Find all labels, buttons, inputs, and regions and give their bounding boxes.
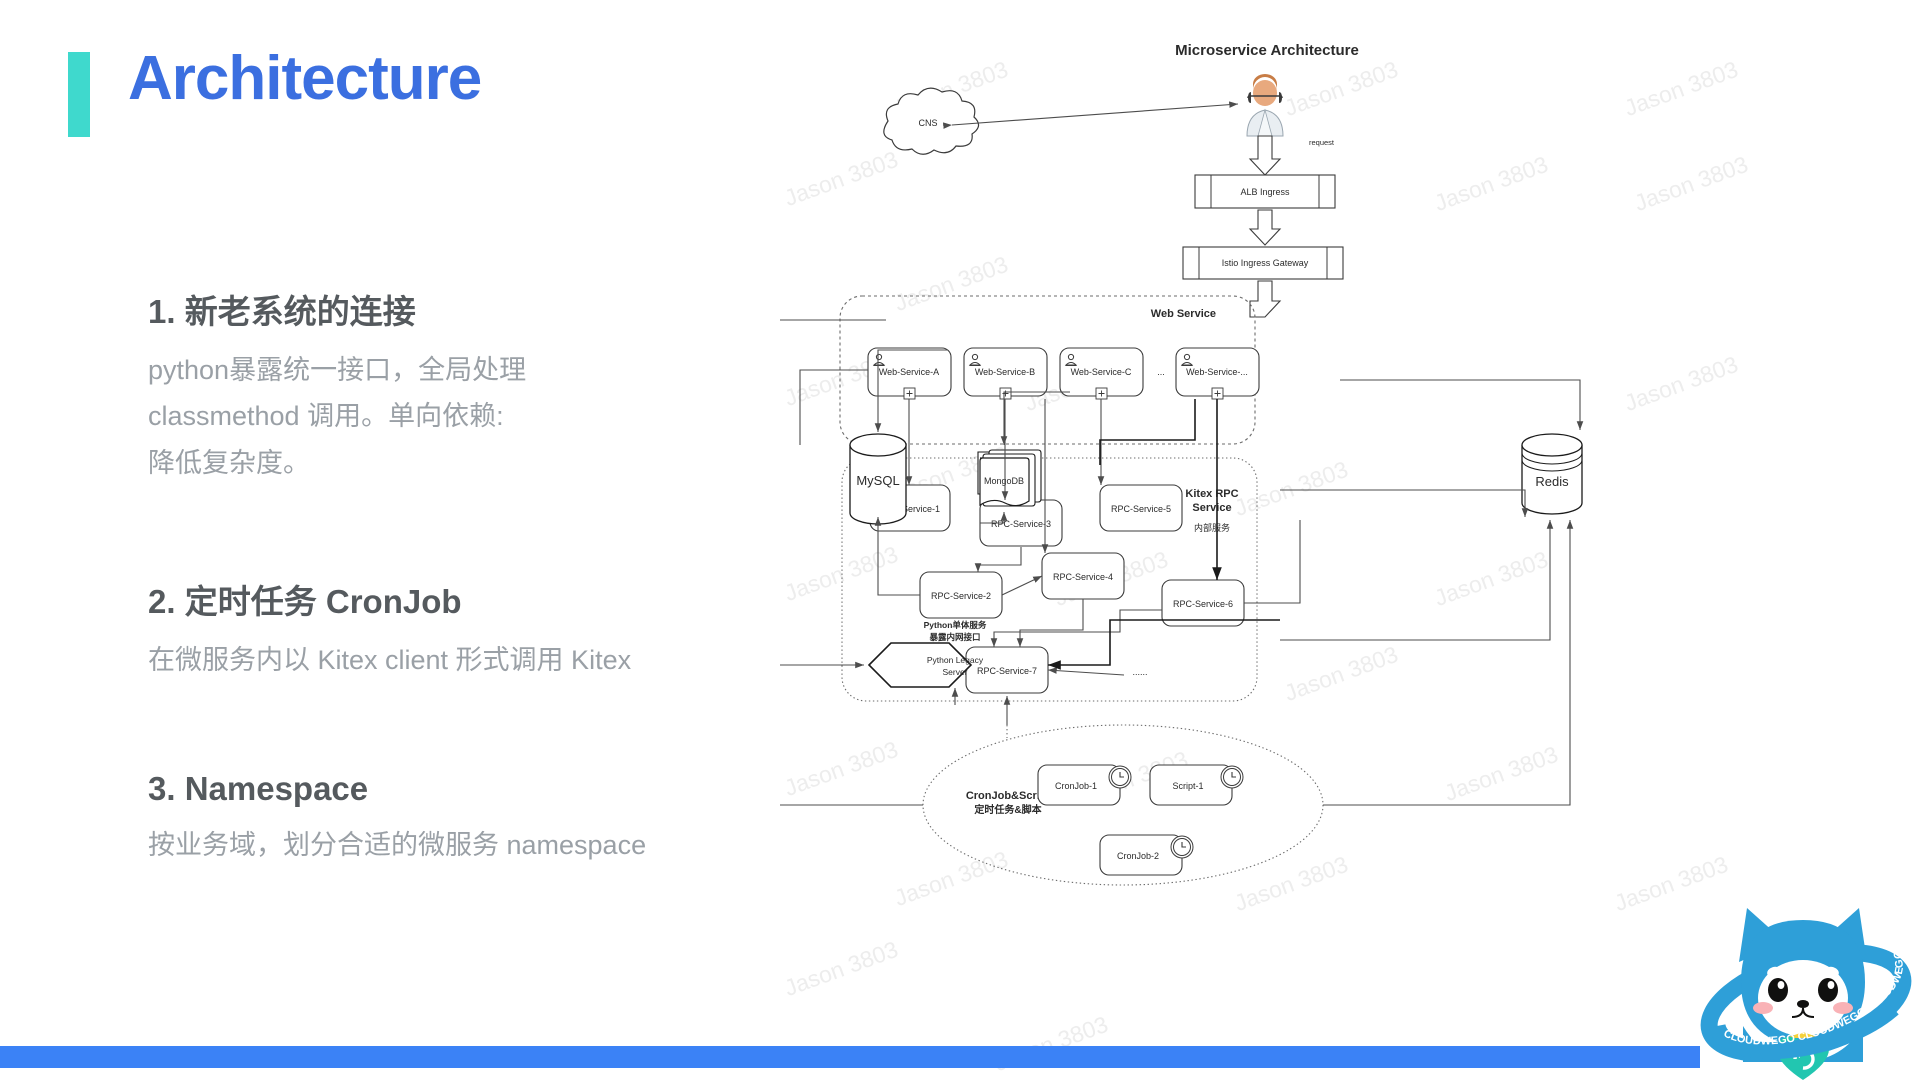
kitex-rpc-group-label-2: Service	[1192, 502, 1231, 514]
section-2-body: 在微服务内以 Kitex client 形式调用 Kitex	[148, 637, 768, 683]
mongodb-label: MongoDB	[984, 476, 1024, 486]
rpc-service-6-label: RPC-Service-6	[1173, 599, 1233, 609]
script-1-label: Script-1	[1172, 781, 1203, 791]
cns-cloud-node[interactable]: CNS	[884, 88, 979, 154]
web-service-node[interactable]: Web-Service-C	[1060, 348, 1143, 399]
web-service-ellipsis: ...	[1157, 367, 1165, 377]
nose	[1797, 1000, 1809, 1008]
python-legacy-note-1: Python单体服务	[924, 620, 987, 630]
cloudwego-mascot-logo: CLOUDWEGO CLOUDWEGO CLOUDWEGO	[1699, 890, 1914, 1080]
edge-wsd-left	[1100, 399, 1195, 465]
section-3: 3. Namespace 按业务域，划分合适的微服务 namespace	[148, 770, 768, 868]
arrow-alb-to-istio	[1250, 210, 1280, 245]
cronjob-node[interactable]: CronJob-1	[1038, 765, 1131, 805]
redis-node[interactable]: Redis	[1522, 434, 1582, 514]
mysql-label: MySQL	[856, 473, 899, 488]
rpc-service-node[interactable]: RPC-Service-4	[1042, 553, 1124, 599]
edge-web-redis	[1340, 380, 1580, 430]
section-1: 1. 新老系统的连接 python暴露统一接口，全局处理 classmethod…	[148, 285, 768, 486]
section-3-body: 按业务域，划分合适的微服务 namespace	[148, 822, 768, 868]
kitex-rpc-group-label: Kitex RPC	[1185, 488, 1238, 500]
edge-rpc2-rpc4	[1002, 576, 1042, 595]
rpc-service-4-label: RPC-Service-4	[1053, 572, 1113, 582]
edge-ws-left-rail	[800, 370, 868, 445]
rpc-service-5-label: RPC-Service-5	[1111, 504, 1171, 514]
edge-user-cns	[952, 104, 1238, 125]
edge-ws-mongodb	[1004, 392, 1070, 445]
clock-icon	[1109, 766, 1131, 788]
request-arrow	[1250, 136, 1280, 175]
blush-right	[1833, 1002, 1853, 1014]
istio-gateway-label: Istio Ingress Gateway	[1222, 258, 1309, 268]
mysql-node[interactable]: MySQL	[850, 434, 906, 524]
cronjob-node[interactable]: CronJob-2	[1100, 835, 1193, 875]
rpc-service-node[interactable]: RPC-Service-6	[1162, 580, 1244, 626]
rpc-service-node[interactable]: RPC-Service-2	[920, 572, 1002, 618]
rpc-ellipsis: ......	[1132, 667, 1147, 677]
web-service-group-label: Web Service	[1151, 308, 1216, 320]
web-service-node[interactable]: Web-Service-A	[868, 348, 951, 399]
cronjob-2-label: CronJob-2	[1117, 851, 1159, 861]
web-service-node[interactable]: Web-Service-...	[1176, 348, 1259, 399]
section-2-heading: 2. 定时任务 CronJob	[148, 575, 768, 623]
edge-rpc-redis-1	[1280, 490, 1525, 517]
edge-cron-left-rail	[780, 680, 923, 805]
section-1-body: python暴露统一接口，全局处理 classmethod 调用。单向依赖: 降…	[148, 347, 768, 486]
edge-rpc4-rpc7	[1020, 599, 1083, 647]
rpc-service-node[interactable]: RPC-Service-5	[1100, 485, 1182, 531]
bottom-accent-bar	[0, 1046, 1700, 1068]
edge-right-rpc7	[1048, 670, 1124, 675]
istio-ingress-gateway-node[interactable]: Istio Ingress Gateway	[1183, 247, 1343, 279]
eye-left-glint	[1778, 981, 1785, 989]
redis-label: Redis	[1535, 474, 1569, 489]
page-title: Architecture	[128, 48, 481, 110]
architecture-diagram: Microservice Architecture CNS request	[780, 20, 1900, 1040]
alb-ingress-node[interactable]: ALB Ingress	[1195, 175, 1335, 208]
mongodb-node[interactable]: MongoDB	[978, 450, 1041, 506]
section-1-line: classmethod 调用。单向依赖:	[148, 393, 768, 439]
section-1-heading: 1. 新老系统的连接	[148, 285, 768, 333]
edge-rpc6-redis-rail	[1244, 520, 1300, 603]
kitex-rpc-group-sub: 内部服务	[1194, 522, 1230, 533]
web-service-node[interactable]: Web-Service-B	[964, 348, 1047, 399]
section-3-heading: 3. Namespace	[148, 770, 768, 808]
eye-right	[1818, 978, 1838, 1002]
web-service-d-label: Web-Service-...	[1186, 367, 1248, 377]
diagram-title: Microservice Architecture	[1175, 42, 1359, 59]
alb-ingress-label: ALB Ingress	[1240, 187, 1290, 197]
rpc-service-node[interactable]: RPC-Service-7	[966, 647, 1048, 693]
blush-left	[1753, 1002, 1773, 1014]
user-actor-icon	[1247, 74, 1283, 141]
clock-icon	[1221, 766, 1243, 788]
cns-label: CNS	[918, 118, 937, 128]
edge-rpc6-rpc7	[994, 610, 1162, 647]
edge-cron-redis	[1323, 520, 1570, 805]
section-1-line: 降低复杂度。	[148, 440, 768, 486]
cronjob-group-sub: 定时任务&脚本	[974, 803, 1042, 816]
title-accent-bar	[68, 52, 90, 137]
cronjob-1-label: CronJob-1	[1055, 781, 1097, 791]
edge-rpc3-rpc2	[978, 547, 1021, 572]
python-legacy-label-1: Python Legacy	[927, 655, 984, 665]
section-1-line: python暴露统一接口，全局处理	[148, 347, 768, 393]
web-service-b-label: Web-Service-B	[975, 367, 1035, 377]
eye-right-glint	[1828, 981, 1835, 989]
rpc-service-7-label: RPC-Service-7	[977, 666, 1037, 676]
cronjob-node[interactable]: Script-1	[1150, 765, 1243, 805]
rpc-service-3-label: RPC-Service-3	[991, 519, 1051, 529]
request-label: request	[1309, 138, 1335, 147]
python-legacy-label-2: Server	[942, 667, 967, 677]
rpc-service-2-label: RPC-Service-2	[931, 591, 991, 601]
section-2: 2. 定时任务 CronJob 在微服务内以 Kitex client 形式调用…	[148, 575, 768, 683]
eye-left	[1768, 978, 1788, 1002]
web-service-c-label: Web-Service-C	[1071, 367, 1132, 377]
web-service-a-label: Web-Service-A	[879, 367, 939, 377]
python-legacy-note-2: 暴露内网接口	[928, 632, 980, 642]
clock-icon	[1171, 836, 1193, 858]
edge-rpc-redis-2	[1280, 520, 1550, 640]
